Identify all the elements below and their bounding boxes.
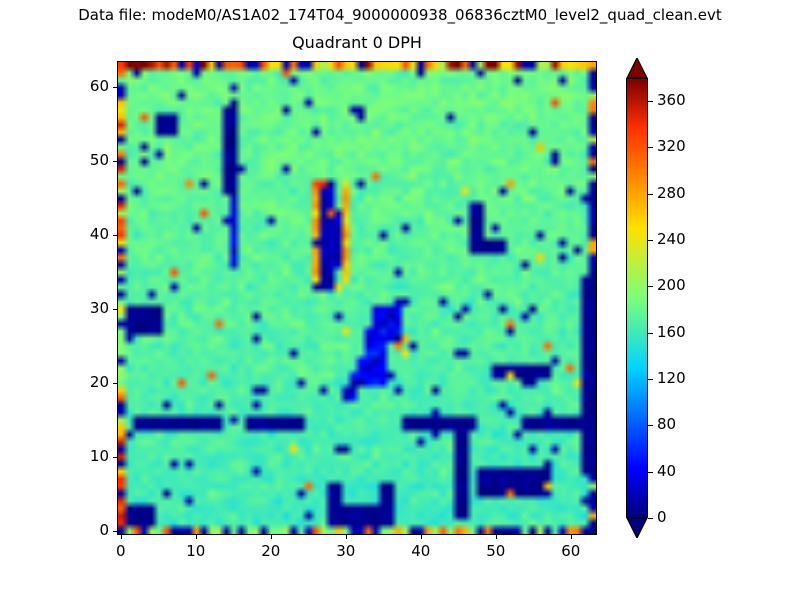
heatmap-image (118, 62, 596, 534)
y-tick (113, 383, 117, 384)
colorbar-tick-label: 120 (657, 369, 686, 387)
y-tick-label: 30 (59, 299, 109, 317)
y-tick-label: 60 (59, 77, 109, 95)
colorbar-tick (648, 240, 653, 241)
y-tick-label: 10 (59, 447, 109, 465)
colorbar-extend-bottom-arrow (626, 518, 648, 538)
y-tick (113, 531, 117, 532)
y-tick (113, 161, 117, 162)
x-tick (346, 535, 347, 539)
colorbar-tick (648, 101, 653, 102)
x-tick-label: 50 (466, 542, 526, 560)
colorbar-tick-label: 240 (657, 230, 686, 248)
y-tick (113, 235, 117, 236)
colorbar (626, 58, 648, 538)
x-tick (421, 535, 422, 539)
y-tick (113, 87, 117, 88)
colorbar-tick-label: 280 (657, 184, 686, 202)
colorbar-tick (648, 333, 653, 334)
colorbar-tick (648, 286, 653, 287)
colorbar-gradient (626, 78, 648, 518)
y-tick-label: 0 (59, 521, 109, 539)
x-tick (121, 535, 122, 539)
colorbar-extend-top-arrow (626, 58, 648, 78)
colorbar-tick-label: 200 (657, 276, 686, 294)
heatmap-axes (117, 61, 597, 535)
axes-title: Quadrant 0 DPH (117, 33, 597, 52)
colorbar-tick (648, 379, 653, 380)
x-tick-label: 0 (91, 542, 151, 560)
x-tick (271, 535, 272, 539)
colorbar-tick (648, 194, 653, 195)
colorbar-tick (648, 518, 653, 519)
colorbar-tick-label: 360 (657, 91, 686, 109)
y-tick-label: 40 (59, 225, 109, 243)
y-tick (113, 309, 117, 310)
x-tick-label: 30 (316, 542, 376, 560)
y-tick-label: 20 (59, 373, 109, 391)
colorbar-tick-label: 0 (657, 508, 667, 526)
colorbar-tick-label: 40 (657, 462, 676, 480)
x-tick-label: 40 (391, 542, 451, 560)
x-tick (496, 535, 497, 539)
colorbar-tick-label: 80 (657, 415, 676, 433)
figure-suptitle: Data file: modeM0/AS1A02_174T04_90000009… (0, 6, 800, 24)
colorbar-tick-label: 320 (657, 137, 686, 155)
x-tick-label: 60 (541, 542, 601, 560)
x-tick-label: 10 (166, 542, 226, 560)
y-tick (113, 457, 117, 458)
colorbar-tick (648, 472, 653, 473)
colorbar-tick (648, 147, 653, 148)
colorbar-tick (648, 425, 653, 426)
y-tick-label: 50 (59, 151, 109, 169)
x-tick-label: 20 (241, 542, 301, 560)
x-tick (571, 535, 572, 539)
figure-canvas: Data file: modeM0/AS1A02_174T04_90000009… (0, 0, 800, 600)
x-tick (196, 535, 197, 539)
colorbar-tick-label: 160 (657, 323, 686, 341)
